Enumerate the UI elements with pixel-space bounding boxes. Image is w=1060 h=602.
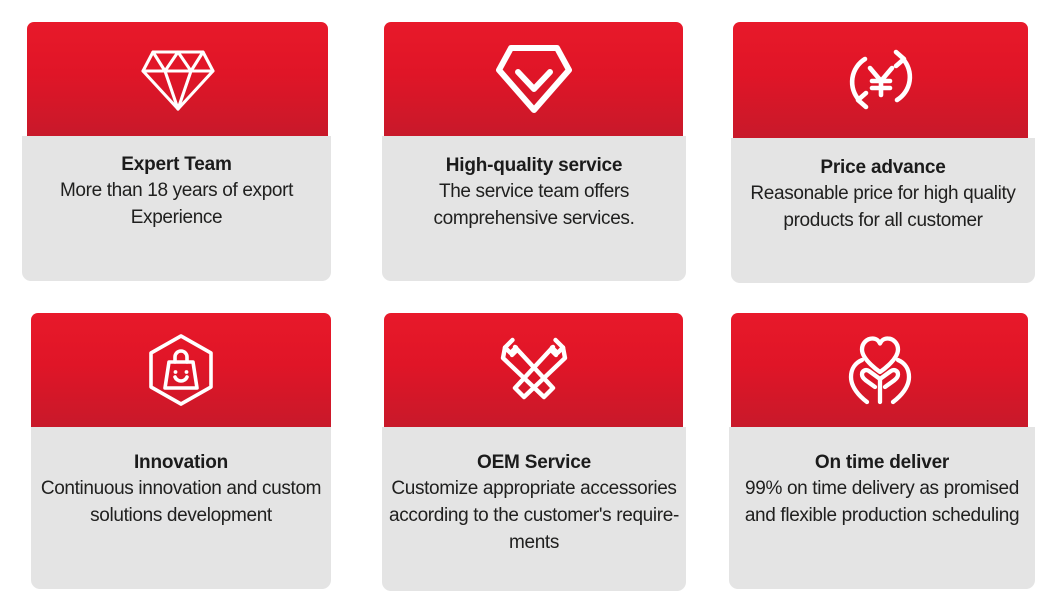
card-description: More than 18 years of export Experience <box>28 177 325 231</box>
feature-card-expert-team[interactable]: Expert Team More than 18 years of export… <box>22 22 331 281</box>
feature-card-oem-service[interactable]: OEM Service Customize appropriate access… <box>382 313 686 591</box>
card-description: Reasonable price for high quality produc… <box>737 180 1029 234</box>
card-header-price-advance <box>733 22 1028 138</box>
card-title: Price advance <box>737 155 1029 180</box>
card-title: Innovation <box>37 450 325 475</box>
card-title: High-quality service <box>388 153 680 178</box>
card-title: On time deliver <box>735 450 1029 475</box>
card-header-high-quality <box>384 22 683 136</box>
feature-cards-grid: Expert Team More than 18 years of export… <box>0 0 1060 602</box>
card-description: Customize appropriate accessories accord… <box>388 475 680 556</box>
card-body-on-time-deliver: On time deliver 99% on time delivery as … <box>729 427 1035 589</box>
card-description: 99% on time delivery as promised and fle… <box>735 475 1029 529</box>
feature-card-high-quality[interactable]: High-quality service The service team of… <box>382 22 686 281</box>
feature-card-innovation[interactable]: Innovation Continuous innovation and cus… <box>31 313 331 589</box>
quality-shield-check-icon <box>493 42 575 116</box>
card-title: Expert Team <box>28 152 325 177</box>
card-header-innovation <box>31 313 331 427</box>
diamond-gem-icon <box>139 44 217 114</box>
card-body-expert-team: Expert Team More than 18 years of export… <box>22 136 331 281</box>
card-body-high-quality: High-quality service The service team of… <box>382 136 686 281</box>
hexagon-shopping-bag-smile-icon <box>142 332 220 408</box>
card-description: Continuous innovation and custom solutio… <box>37 475 325 529</box>
yen-refresh-cycle-icon <box>843 43 919 117</box>
crossed-pens-icon <box>495 333 573 407</box>
card-body-innovation: Innovation Continuous innovation and cus… <box>31 427 331 589</box>
feature-card-on-time-deliver[interactable]: On time deliver 99% on time delivery as … <box>729 313 1035 589</box>
card-header-expert-team <box>27 22 328 136</box>
card-title: OEM Service <box>388 450 680 475</box>
card-body-oem-service: OEM Service Customize appropriate access… <box>382 427 686 591</box>
feature-card-price-advance[interactable]: Price advance Reasonable price for high … <box>731 22 1035 283</box>
card-body-price-advance: Price advance Reasonable price for high … <box>731 138 1035 283</box>
card-description: The service team offers comprehensive se… <box>388 178 680 232</box>
card-header-on-time-deliver <box>731 313 1028 427</box>
heart-in-hands-icon <box>838 332 922 408</box>
card-header-oem-service <box>384 313 683 427</box>
